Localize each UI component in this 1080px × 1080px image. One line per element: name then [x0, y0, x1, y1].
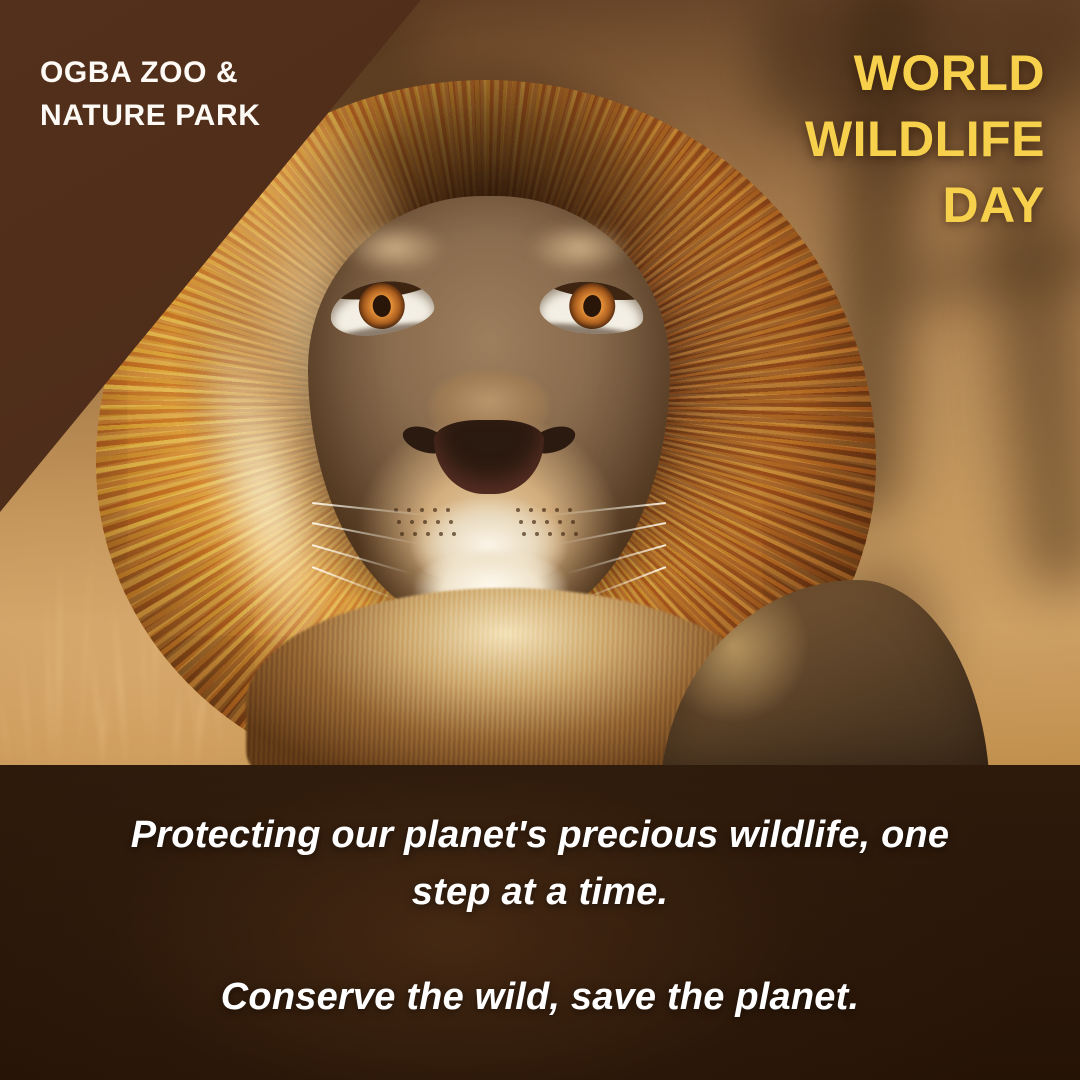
brand-line-1: OGBA ZOO & — [40, 52, 260, 95]
event-headline: WORLD WILDLIFE DAY — [805, 40, 1045, 238]
whisker — [312, 544, 413, 575]
grass-blade — [77, 512, 95, 770]
brand-line-2: NATURE PARK — [40, 95, 260, 138]
caption-primary: Protecting our planet's precious wildlif… — [86, 807, 994, 921]
lion-brow-right — [520, 218, 640, 278]
grass-blade — [0, 680, 11, 770]
whisker — [312, 566, 402, 602]
lion-pupil-left — [371, 294, 392, 318]
grass-blade — [19, 638, 32, 770]
lion-brow-left — [334, 218, 454, 278]
lion-pupil-right — [582, 294, 603, 318]
whisker — [312, 502, 432, 517]
whisker — [312, 522, 422, 545]
whisker — [566, 544, 667, 575]
headline-line-1: WORLD — [805, 40, 1045, 106]
headline-line-2: WILDLIFE — [805, 106, 1045, 172]
grass-blade — [45, 596, 53, 770]
caption-band: Protecting our planet's precious wildlif… — [0, 765, 1080, 1080]
lion-eye-right — [537, 276, 647, 340]
poster-canvas: OGBA ZOO & NATURE PARK WORLD WILDLIFE DA… — [0, 0, 1080, 1080]
whisker — [556, 522, 666, 545]
headline-line-3: DAY — [805, 172, 1045, 238]
brand-logotype: OGBA ZOO & NATURE PARK — [40, 52, 260, 137]
lion-face — [308, 196, 670, 626]
caption-secondary: Conserve the wild, save the planet. — [221, 969, 859, 1026]
whisker — [547, 502, 667, 517]
lion-eye-left — [327, 276, 437, 340]
grass-blade — [56, 554, 62, 770]
